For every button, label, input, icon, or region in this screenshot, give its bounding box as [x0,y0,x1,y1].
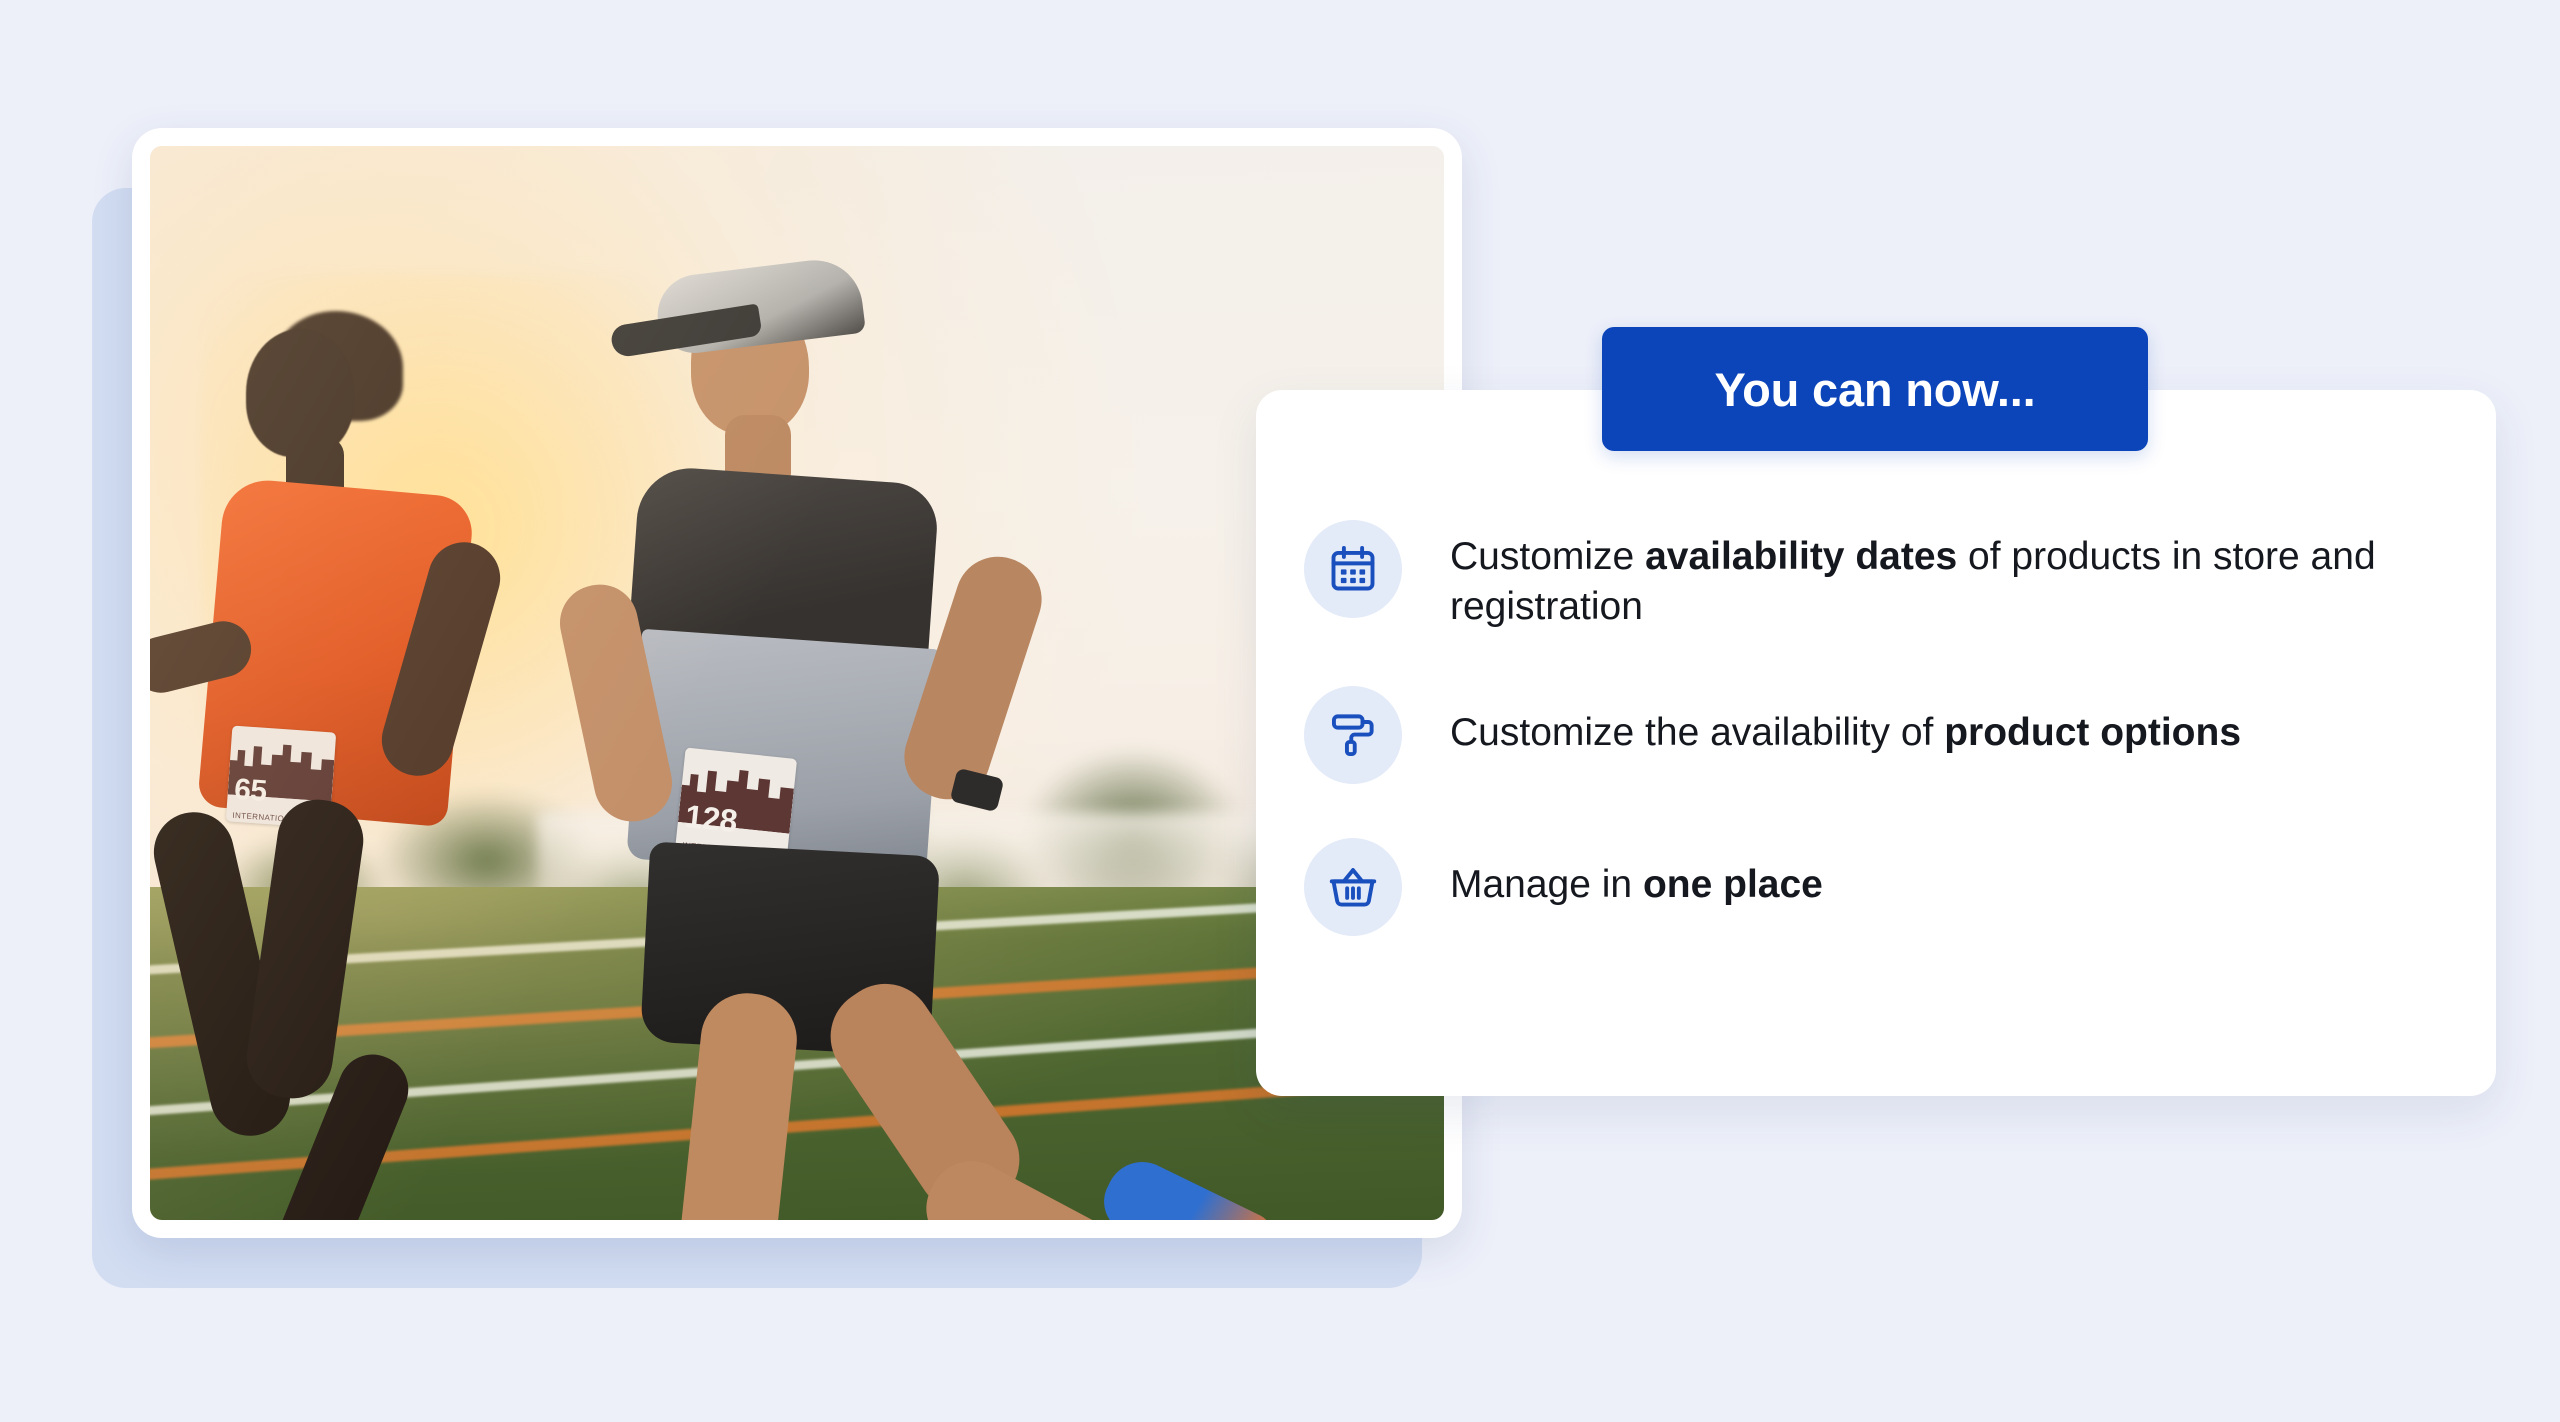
feature-text-before: Customize the availability of [1450,711,1944,754]
calendar-icon [1304,520,1402,618]
feature-text-bold: availability dates [1645,535,1957,578]
feature-text: Customize availability dates of products… [1450,520,2470,632]
feature-item-one-place: Manage in one place [1304,838,2486,936]
feature-item-availability-dates: Customize availability dates of products… [1304,520,2486,632]
paint-roller-icon [1304,686,1402,784]
features-card: Customize availability dates of products… [1256,390,2496,1096]
runner-legs [176,799,506,1220]
feature-list: Customize availability dates of products… [1304,520,2486,936]
you-can-now-badge: You can now... [1602,327,2148,451]
woman-runner: 65 INTERNATIONAL [176,329,616,1220]
runner-leg [241,794,368,1103]
feature-text-bold: product options [1944,711,2241,754]
man-runner: 128 INTERNATIONAL [577,253,1146,1220]
badge-label: You can now... [1715,366,2036,413]
feature-item-product-options: Customize the availability of product op… [1304,686,2486,784]
feature-text-before: Manage in [1450,863,1643,906]
running-shoe [341,1219,503,1220]
feature-text-before: Customize [1450,535,1645,578]
bib-number: 128 [683,799,738,841]
shopping-basket-icon [1304,838,1402,936]
runners-photo: 65 INTERNATIONAL [150,146,1444,1220]
slide-canvas: 65 INTERNATIONAL [0,0,2560,1422]
feature-text: Manage in one place [1450,838,1823,910]
feature-text: Customize the availability of product op… [1450,686,2241,758]
sport-watch [949,768,1004,813]
feature-text-bold: one place [1643,863,1823,906]
